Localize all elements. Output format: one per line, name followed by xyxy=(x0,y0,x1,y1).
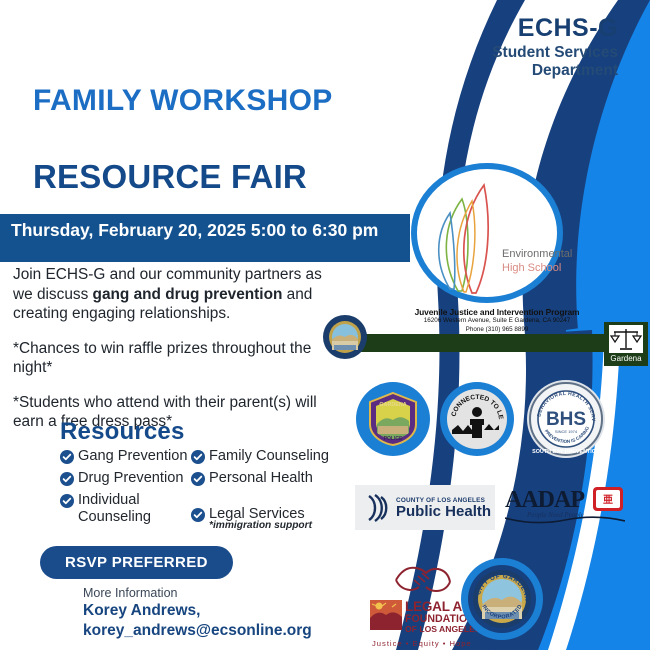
resource-item: Individual Counseling xyxy=(60,492,191,526)
header-org-block: ECHS-G Student Services Department xyxy=(492,14,618,80)
header-dept-line1: Student Services xyxy=(492,44,618,62)
resource-item: Drug Prevention xyxy=(60,470,191,487)
bhs-badge: BEHAVIORAL HEALTH SERVICES BHS SINCE 197… xyxy=(527,380,605,458)
handshake-icon xyxy=(388,560,458,596)
gardena-box-label: Gardena xyxy=(604,354,648,363)
header-org-name: ECHS-G xyxy=(492,14,618,44)
la-county-public-health-logo: COUNTY OF LOS ANGELES Public Health xyxy=(355,485,495,530)
city-of-gardena-seal: CITY OF GARDENA INCORPORATED 1930 xyxy=(460,557,544,641)
public-health-inner: COUNTY OF LOS ANGELES Public Health xyxy=(365,493,491,523)
jjip-green-bar xyxy=(360,334,610,352)
resources-section: Resources Gang Prevention Drug Preventio… xyxy=(60,418,360,531)
scales-of-justice-icon xyxy=(609,325,643,353)
rsvp-button[interactable]: RSVP PREFERRED xyxy=(40,546,233,579)
gardena-city-seal-small xyxy=(322,314,368,360)
resource-label: Gang Prevention xyxy=(78,448,188,465)
check-circle-icon xyxy=(60,472,74,486)
resource-label: Drug Prevention xyxy=(78,470,183,487)
aadap-emblem-icon: 亜 xyxy=(593,487,623,511)
jjip-banner: Juvenile Justice and Intervention Progra… xyxy=(322,306,622,362)
echs-logo-line2: High School xyxy=(502,262,561,274)
resource-item: Gang Prevention xyxy=(60,448,191,465)
resource-item: Family Counseling xyxy=(191,448,356,465)
public-health-name: Public Health xyxy=(396,504,491,519)
connected-to-lead-badge: CONNECTED TO LEAD xyxy=(440,382,514,456)
bhs-since: SINCE 1974 xyxy=(555,429,578,434)
check-circle-icon xyxy=(191,508,205,522)
header-dept-line2: Department xyxy=(492,62,618,80)
aadap-logo: AADAP People Need People 亜 xyxy=(505,487,645,529)
check-circle-icon xyxy=(191,450,205,464)
resources-heading: Resources xyxy=(60,418,360,446)
event-date-banner: Thursday, February 20, 2025 5:00 to 6:30… xyxy=(0,214,410,262)
check-circle-icon xyxy=(60,494,74,508)
resources-column-right: Family Counseling Personal Health Legal … xyxy=(191,448,356,531)
svg-text:亜: 亜 xyxy=(603,494,613,506)
gardena-police-label: GARDENA xyxy=(379,402,406,408)
resources-grid: Gang Prevention Drug Prevention Individu… xyxy=(60,448,360,531)
legal-aid-emblem-icon xyxy=(370,600,402,630)
legal-aid-tagline: Justice • Equity • Hope xyxy=(372,639,472,648)
check-circle-icon xyxy=(60,450,74,464)
jjip-title: Juvenile Justice and Intervention Progra… xyxy=(377,307,617,317)
contact-name: Korey Andrews, xyxy=(83,601,312,621)
body-paragraph-raffle: *Chances to win raffle prizes throughout… xyxy=(13,339,343,378)
resource-note-immigration: *immigration support xyxy=(209,520,356,531)
public-health-mark-icon xyxy=(365,493,391,523)
bhs-abbr: BHS xyxy=(546,409,586,430)
echs-logo: Environmental Charter High School xyxy=(400,163,575,303)
echs-logo-line1: Environmental Charter xyxy=(502,248,575,260)
intro-text-bold: gang and drug prevention xyxy=(93,286,283,303)
svg-text:POLICE: POLICE xyxy=(384,436,403,442)
gardena-police-badge: GARDENA POLICE xyxy=(356,382,430,456)
gardena-justice-box: Gardena xyxy=(604,322,648,366)
title-resource-fair: RESOURCE FAIR xyxy=(33,158,307,196)
jjip-phone: Phone (310) 965 8899 xyxy=(377,326,617,335)
resource-item: Personal Health xyxy=(191,470,356,487)
more-info-label: More Information xyxy=(83,586,312,600)
jjip-text-block: Juvenile Justice and Intervention Progra… xyxy=(377,307,617,334)
title-family-workshop: FAMILY WORKSHOP xyxy=(33,84,333,118)
check-circle-icon xyxy=(191,472,205,486)
bhs-bottom-label: SOUTH BAY PREVENTION xyxy=(532,449,600,455)
contact-email[interactable]: korey_andrews@ecsonline.org xyxy=(83,621,312,641)
resource-label: Family Counseling xyxy=(209,448,329,465)
flyer-canvas: ECHS-G Student Services Department FAMIL… xyxy=(0,0,650,650)
resource-label: Individual Counseling xyxy=(78,492,191,526)
resource-label: Personal Health xyxy=(209,470,313,487)
body-paragraph-intro: Join ECHS-G and our community partners a… xyxy=(13,265,343,324)
aadap-swoosh-icon xyxy=(505,515,625,525)
aadap-name: AADAP xyxy=(505,487,645,514)
resources-column-left: Gang Prevention Drug Prevention Individu… xyxy=(60,448,191,531)
jjip-address: 16206 Western Avenue, Suite E Gardena, C… xyxy=(377,317,617,326)
resource-item-legal-wrap: Legal Services *immigration support xyxy=(191,506,356,531)
more-information-block: More Information Korey Andrews, korey_an… xyxy=(83,586,312,642)
